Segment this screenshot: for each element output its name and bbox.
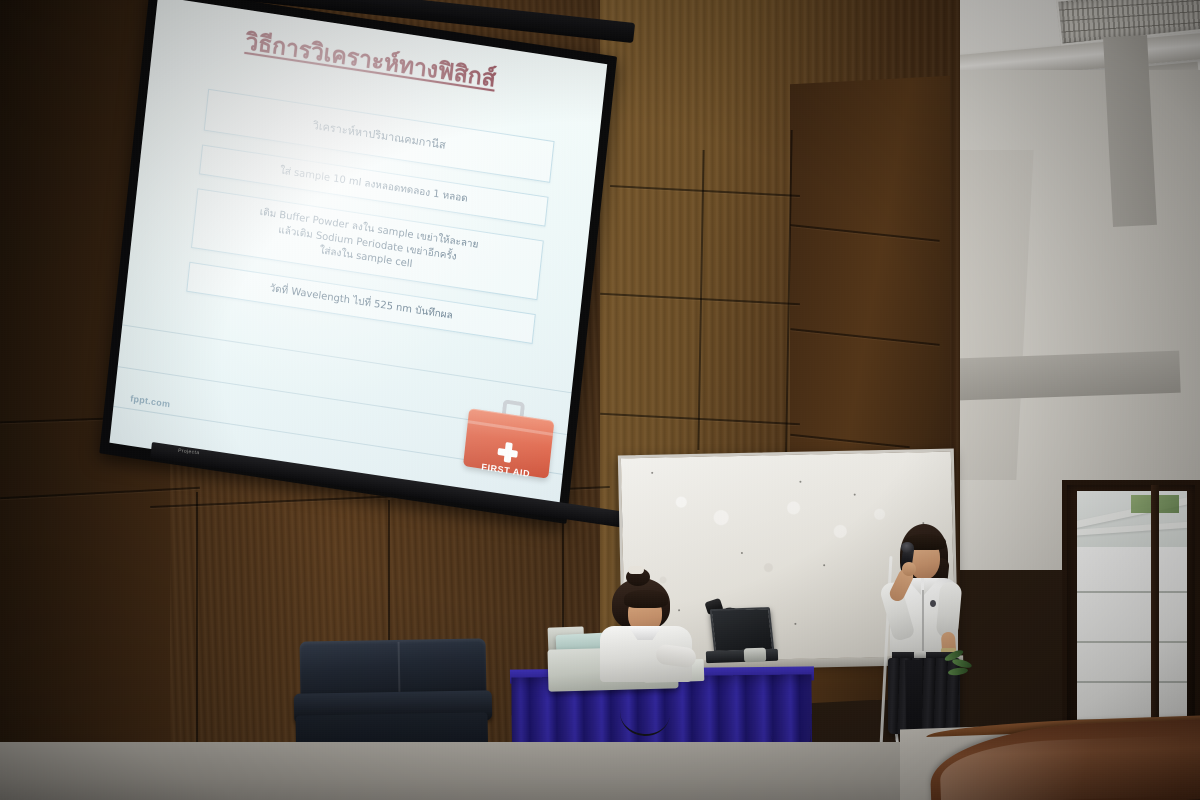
whiteboard-mark [854, 494, 856, 496]
projection-screen[interactable]: วิธีการวิเคราะห์ทางฟิสิกส์ วิเคราะห์หาปร… [150, 0, 650, 486]
presenter-hand [902, 562, 916, 576]
fppt-watermark: fppt.com [130, 393, 171, 409]
presenter-right-arm [936, 581, 963, 639]
window-rail [1077, 641, 1187, 643]
sofa-backrest [300, 638, 487, 697]
whiteboard-mark [794, 623, 796, 625]
screen-surface: วิธีการวิเคราะห์ทางฟิสิกส์ วิเคราะห์หาปร… [109, 0, 607, 511]
photo-scene: วิธีการวิเคราะห์ทางฟิสิกส์ วิเคราะห์หาปร… [0, 0, 1200, 800]
window-rail [1077, 591, 1187, 593]
laptop-screen[interactable] [710, 607, 775, 653]
presenter-badge [930, 600, 936, 607]
sofa-seam [398, 642, 401, 692]
whiteboard-mark [651, 472, 653, 474]
whiteboard-mark [799, 481, 801, 483]
plant-leaf [948, 667, 969, 677]
microphone-base [744, 648, 766, 663]
slide-content: วิธีการวิเคราะห์ทางฟิสิกส์ วิเคราะห์หาปร… [109, 0, 607, 511]
seated-operator [598, 572, 694, 682]
plant-icon [944, 646, 978, 680]
operator-fringe [624, 590, 668, 608]
slide-flowchart: วิเคราะห์หาปริมาณคมกานีส ใส่ sample 10 m… [185, 89, 555, 359]
panel-seam [388, 500, 390, 660]
medical-cross-icon [497, 441, 519, 464]
slide-title: วิธีการวิเคราะห์ทางฟิสิกส์ [244, 24, 498, 98]
aid-kit-body: FIRST AID [463, 408, 554, 479]
operator-hair-clip [628, 566, 644, 574]
presenter-shirt-placket [922, 590, 924, 652]
first-aid-kit-icon: FIRST AID [463, 394, 556, 480]
window-canopy [1077, 491, 1187, 547]
window-rail [1077, 681, 1187, 683]
wall-ledge [929, 351, 1180, 402]
whiteboard-mark [741, 552, 743, 554]
whiteboard-mark [823, 564, 825, 566]
laptop-base[interactable] [706, 649, 778, 664]
